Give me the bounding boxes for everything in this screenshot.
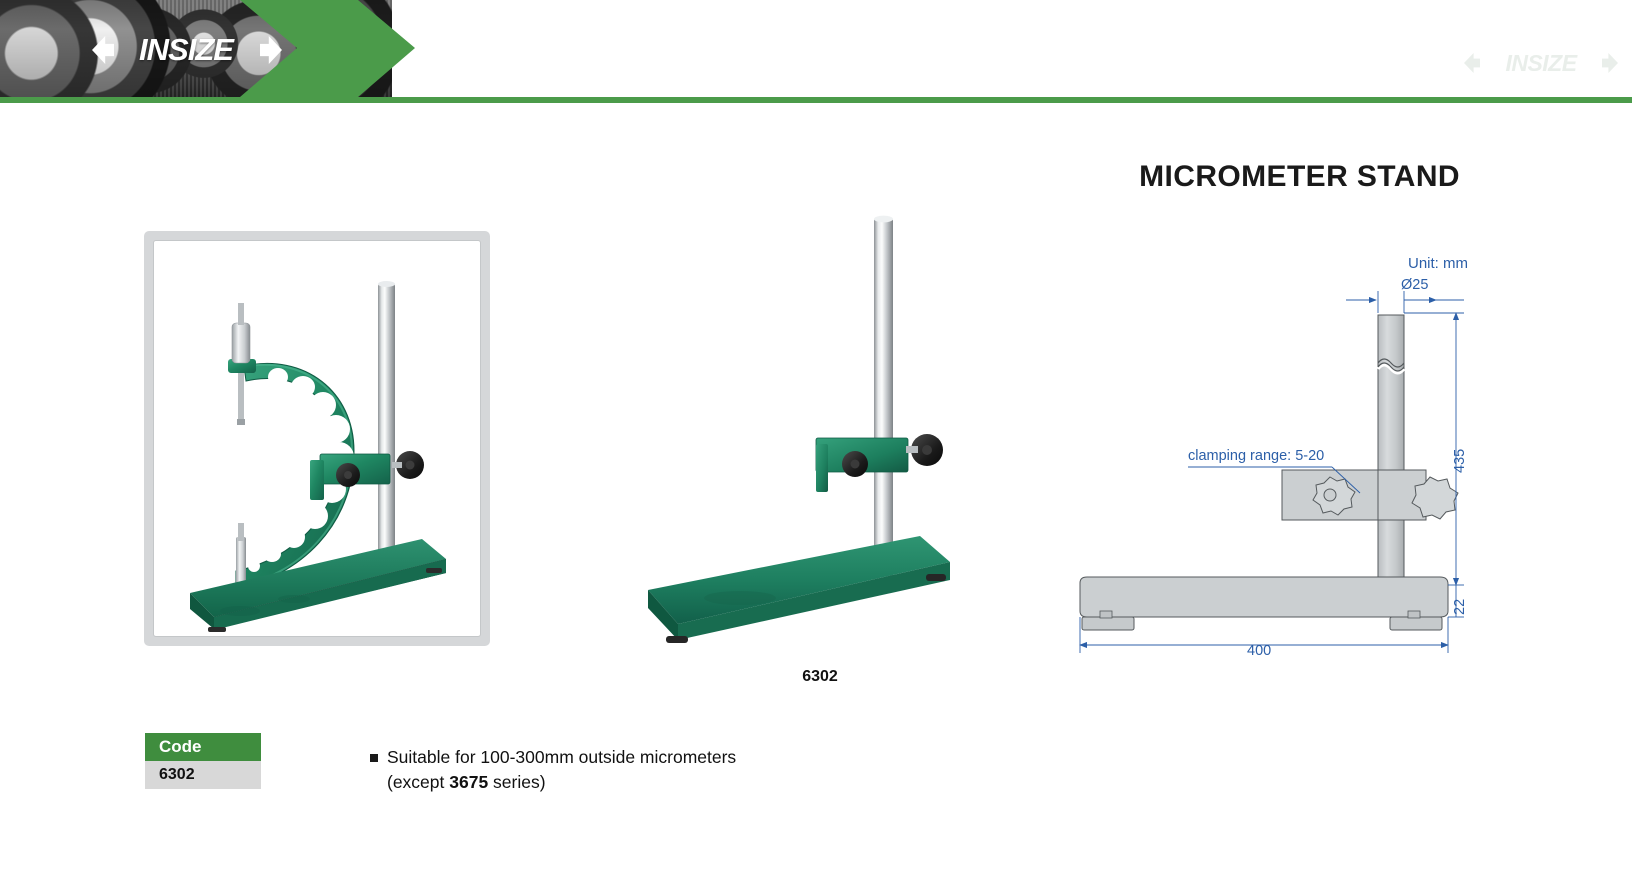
code-table: Code 6302 [145,733,261,789]
logo-left-arrow-icon [92,36,114,64]
watermark-right-arrow-icon [1602,53,1618,73]
stand-only-illustration [620,200,1020,670]
insize-logo: INSIZE [96,32,276,68]
spec-line-2-bold: 3675 [449,772,488,792]
spec-line-2-prefix: (except [387,772,449,792]
code-table-row: 6302 [145,761,261,789]
page-header: INSIZE INSIZE [0,0,1632,103]
product-photo-frame [144,231,490,646]
unit-label: Unit: mm [1408,255,1468,272]
logo-text: INSIZE [139,32,233,68]
diameter-dimension-label: Ø25 [1401,277,1428,293]
page-title: MICROMETER STAND [1139,160,1460,194]
product-photo-secondary [620,200,1020,670]
code-table-header: Code [145,733,261,761]
base-thickness-dimension-label: 22 [1452,599,1468,615]
base-width-dimension-label: 400 [1247,643,1271,659]
clamping-range-label: clamping range: 5-20 [1188,448,1324,464]
height-dimension-label: 435 [1452,449,1468,473]
watermark-left-arrow-icon [1464,53,1480,73]
specifications-list: Suitable for 100-300mm outside micromete… [370,745,990,795]
product-photo-main [153,240,481,637]
technical-drawing: Unit: mm Ø25 435 22 400 clamping range: … [1060,255,1530,675]
bullet-square-icon [370,754,378,762]
insize-watermark: INSIZE [1466,48,1616,78]
spec-line-1: Suitable for 100-300mm outside micromete… [387,747,736,767]
spec-item: Suitable for 100-300mm outside micromete… [370,745,990,795]
micrometer-stand-illustration [154,241,480,636]
spec-line-2-suffix: series) [488,772,545,792]
header-green-rule [0,97,1632,103]
secondary-photo-caption: 6302 [620,668,1020,686]
spec-text: Suitable for 100-300mm outside micromete… [387,745,736,795]
watermark-text: INSIZE [1505,50,1576,77]
